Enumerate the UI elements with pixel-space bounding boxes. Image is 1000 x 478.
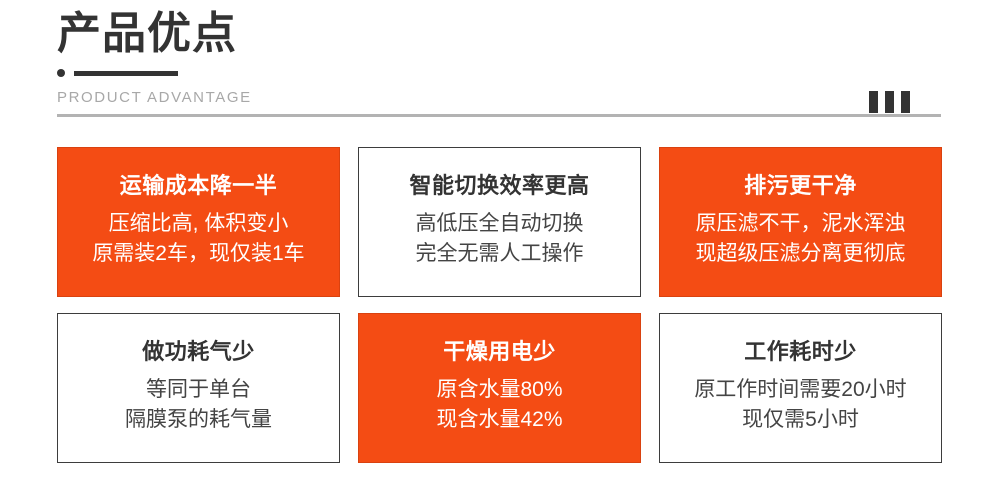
advantage-card[interactable]: 做功耗气少 等同于单台 隔膜泵的耗气量 — [57, 313, 340, 463]
card-title: 工作耗时少 — [744, 337, 857, 367]
dash-decoration-icon — [74, 71, 178, 76]
bar-3-icon — [901, 91, 910, 113]
card-line: 原需装2车，现仅装1车 — [92, 239, 304, 269]
section-header: 产品优点 PRODUCT ADVANTAGE — [57, 8, 941, 120]
card-title: 干燥用电少 — [443, 337, 556, 367]
bar-1-icon — [869, 91, 878, 113]
card-line: 原压滤不干，泥水浑浊 — [696, 209, 906, 239]
card-line: 等同于单台 — [146, 375, 251, 405]
advantage-card[interactable]: 运输成本降一半 压缩比高, 体积变小 原需装2车，现仅装1车 — [57, 147, 340, 297]
card-line: 现超级压滤分离更彻底 — [696, 239, 906, 269]
dot-decoration-icon — [57, 69, 65, 77]
advantage-card-grid: 运输成本降一半 压缩比高, 体积变小 原需装2车，现仅装1车 智能切换效率更高 … — [57, 147, 942, 463]
advantage-card[interactable]: 干燥用电少 原含水量80% 现含水量42% — [358, 313, 641, 463]
header-divider — [57, 114, 941, 117]
advantage-card[interactable]: 排污更干净 原压滤不干，泥水浑浊 现超级压滤分离更彻底 — [659, 147, 942, 297]
card-line: 隔膜泵的耗气量 — [125, 405, 272, 435]
page-subtitle: PRODUCT ADVANTAGE — [57, 89, 941, 106]
card-line: 现仅需5小时 — [742, 405, 859, 435]
product-advantage-page: 产品优点 PRODUCT ADVANTAGE 运输成本降一半 压缩比高, 体积变… — [0, 0, 1000, 478]
card-title: 做功耗气少 — [142, 337, 255, 367]
card-title: 排污更干净 — [744, 171, 857, 201]
card-line: 原工作时间需要20小时 — [694, 375, 906, 405]
card-line: 压缩比高, 体积变小 — [109, 209, 289, 239]
card-line: 现含水量42% — [436, 405, 562, 435]
advantage-card[interactable]: 工作耗时少 原工作时间需要20小时 现仅需5小时 — [659, 313, 942, 463]
page-title: 产品优点 — [57, 8, 941, 60]
bars-decoration-icon — [869, 91, 910, 113]
advantage-card[interactable]: 智能切换效率更高 高低压全自动切换 完全无需人工操作 — [358, 147, 641, 297]
title-decoration — [57, 68, 941, 78]
card-line: 高低压全自动切换 — [416, 209, 584, 239]
card-line: 完全无需人工操作 — [416, 239, 584, 269]
bar-2-icon — [885, 91, 894, 113]
card-line: 原含水量80% — [436, 375, 562, 405]
card-title: 智能切换效率更高 — [409, 171, 589, 201]
card-title: 运输成本降一半 — [120, 171, 278, 201]
